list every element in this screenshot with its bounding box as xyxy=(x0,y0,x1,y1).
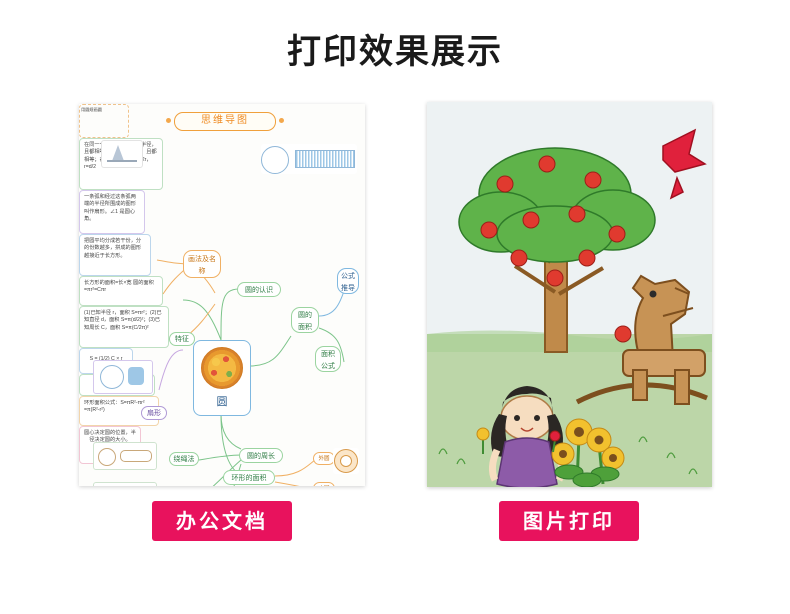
branch-inner-circle: 内圆 xyxy=(313,482,335,486)
ring-illustration xyxy=(333,448,359,474)
branch-circumference: 圆的周长 xyxy=(239,448,283,463)
branch-circle-knowledge: 圆的认识 xyxy=(237,282,281,297)
string-method-illustration xyxy=(93,442,157,470)
compass-illustration xyxy=(101,140,143,168)
office-document-card: 思维导图 用圆规画圆 画法及名称 圆的认识 圆的面积 xyxy=(79,104,365,486)
page-title: 打印效果展示 xyxy=(0,24,790,73)
title-dot-right xyxy=(279,118,284,123)
branch-circle-area: 圆的面积 xyxy=(291,307,319,333)
caption-office-document: 办公文档 xyxy=(152,501,292,541)
page-root: 打印效果展示 xyxy=(0,0,790,614)
mindmap-title: 思维导图 xyxy=(174,112,276,131)
mindmap-document: 思维导图 用圆规画圆 画法及名称 圆的认识 圆的面积 xyxy=(79,104,365,486)
branch-formula-derivation: 公式推导 xyxy=(337,268,359,294)
pizza-icon xyxy=(201,347,243,389)
branch-outer-circle: 外圆 xyxy=(313,452,335,465)
branch-ring-area: 环形的面积 xyxy=(223,470,275,485)
photo-print-card xyxy=(427,102,712,487)
branch-string-method: 绕绳法 xyxy=(169,452,199,466)
branch-features: 特征 xyxy=(169,332,195,346)
branch-sector: 扇形 xyxy=(141,406,167,420)
mindmap-title-text: 思维导图 xyxy=(201,115,249,126)
branch-area-formula: 面积公式 xyxy=(315,346,341,372)
circle-division-illustration xyxy=(261,144,357,174)
rolling-method-illustration xyxy=(93,482,157,486)
childrens-drawing-photo xyxy=(427,102,712,487)
sector-illustration xyxy=(93,360,153,394)
caption-photo-print: 图片打印 xyxy=(499,501,639,541)
title-dot-left xyxy=(166,118,171,123)
center-node-label: 圆 xyxy=(194,393,250,409)
branch-drawing-names: 画法及名称 xyxy=(183,250,221,278)
drawing-svg xyxy=(427,102,712,487)
mindmap-center-node: 圆 xyxy=(193,340,251,416)
